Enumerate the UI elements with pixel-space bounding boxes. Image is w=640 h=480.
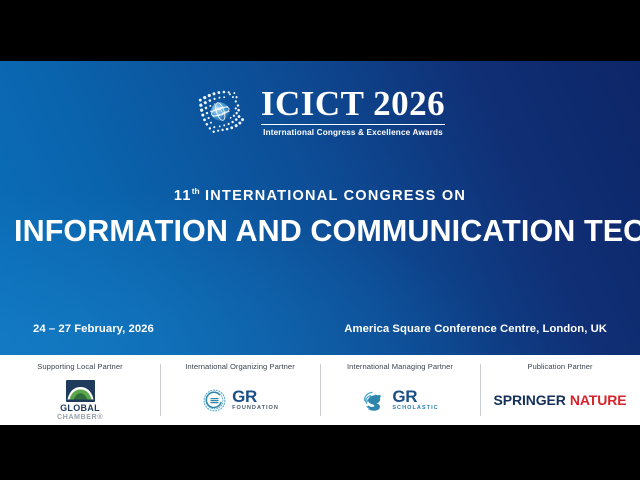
partner-bar: Supporting Local Partner GLOBAL CHAMBER® [0, 355, 640, 425]
letterbox-top [0, 0, 640, 61]
partner-international-organizing: International Organizing Partner [160, 355, 320, 425]
partner-supporting-local: Supporting Local Partner GLOBAL CHAMBER® [0, 355, 160, 425]
gr-scholastic-logo[interactable]: GR SCHOLASTIC [320, 375, 480, 425]
letterbox-bottom [0, 425, 640, 480]
springer-wordmark: SPRINGER [493, 392, 565, 408]
kicker-number: 11 [174, 188, 192, 204]
logo-title: ICICT 2026 [261, 87, 445, 121]
global-chamber-mark [66, 380, 95, 402]
global-chamber-logo[interactable]: GLOBAL CHAMBER® [0, 375, 160, 425]
partner-label: International Organizing Partner [185, 362, 295, 371]
gr-foundation-subword: FOUNDATION [232, 406, 279, 412]
event-hero-banner: ICICT 2026 International Congress & Exce… [0, 61, 640, 355]
congress-kicker: 11th INTERNATIONAL CONGRESS ON [14, 186, 626, 204]
global-chamber-word2: CHAMBER® [57, 413, 103, 420]
gr-scholastic-wordmark: GR [392, 388, 417, 405]
logo-divider [261, 124, 445, 126]
partner-label: Publication Partner [527, 362, 592, 371]
partner-label: International Managing Partner [347, 362, 453, 371]
partner-international-managing: International Managing Partner [320, 355, 480, 425]
globe-halftone-swirl-icon [195, 85, 249, 139]
page-title: INFORMATION AND COMMUNICATION TECHNOLOGY [14, 215, 626, 247]
gr-foundation-mark [201, 387, 228, 414]
headline-block: 11th INTERNATIONAL CONGRESS ON INFORMATI… [0, 186, 640, 247]
event-logo-lockup: ICICT 2026 International Congress & Exce… [0, 85, 640, 139]
gr-scholastic-mark [361, 387, 388, 414]
kicker-ordinal: th [192, 186, 200, 196]
gr-foundation-logo[interactable]: GR FOUNDATION [160, 375, 320, 425]
event-venue: America Square Conference Centre, London… [344, 323, 607, 335]
springer-nature-logo[interactable]: SPRINGERNATURE [480, 375, 640, 425]
gr-scholastic-subword: SCHOLASTIC [392, 406, 438, 412]
event-meta-row: 24 – 27 February, 2026 America Square Co… [0, 323, 640, 335]
video-frame: ICICT 2026 International Congress & Exce… [0, 0, 640, 480]
nature-wordmark: NATURE [570, 392, 627, 408]
event-dates: 24 – 27 February, 2026 [33, 323, 154, 335]
gr-foundation-wordmark: GR [232, 388, 257, 405]
logo-tagline: International Congress & Excellence Awar… [263, 128, 443, 137]
partner-publication: Publication Partner SPRINGERNATURE [480, 355, 640, 425]
kicker-text: INTERNATIONAL CONGRESS ON [205, 188, 466, 204]
partner-label: Supporting Local Partner [37, 362, 122, 371]
